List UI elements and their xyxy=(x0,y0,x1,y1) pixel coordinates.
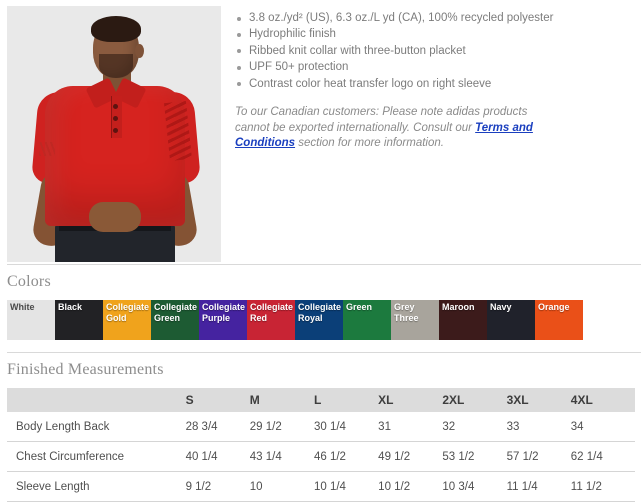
swatch-label: Collegiate Royal xyxy=(298,302,342,324)
color-swatch-maroon[interactable]: Maroon xyxy=(439,300,487,340)
list-item: Hydrophilic finish xyxy=(235,26,635,42)
color-swatch-orange[interactable]: Orange xyxy=(535,300,583,340)
model-beard xyxy=(99,54,133,78)
swatch-label: Maroon xyxy=(442,302,486,313)
cell-value: 43 1/4 xyxy=(250,442,314,472)
row-label: Body Length Back xyxy=(7,412,186,442)
table-header-row: S M L XL 2XL 3XL 4XL xyxy=(7,388,635,412)
cell-value: 34 xyxy=(571,412,635,442)
column-header-4xl: 4XL xyxy=(571,388,635,412)
table-row: Chest Circumference 40 1/4 43 1/4 46 1/2… xyxy=(7,442,635,472)
color-swatch-navy[interactable]: Navy xyxy=(487,300,535,340)
color-swatch-collegiate-gold[interactable]: Collegiate Gold xyxy=(103,300,151,340)
column-header-s: S xyxy=(186,388,250,412)
row-label: Sleeve Length xyxy=(7,472,186,502)
cell-value: 49 1/2 xyxy=(378,442,442,472)
row-label: Chest Circumference xyxy=(7,442,186,472)
cell-value: 10 1/4 xyxy=(314,472,378,502)
color-swatch-white[interactable]: White xyxy=(7,300,55,340)
color-swatch-row: White Black Collegiate Gold Collegiate G… xyxy=(7,300,643,340)
list-item: UPF 50+ protection xyxy=(235,59,635,75)
adidas-logo-icon xyxy=(39,142,55,156)
placket-button xyxy=(113,128,118,133)
product-photo[interactable] xyxy=(7,6,221,262)
cell-value: 10 xyxy=(250,472,314,502)
color-swatch-black[interactable]: Black xyxy=(55,300,103,340)
swatch-label: Collegiate Green xyxy=(154,302,198,324)
swatch-label: Collegiate Purple xyxy=(202,302,246,324)
cell-value: 28 3/4 xyxy=(186,412,250,442)
swatch-label: Collegiate Gold xyxy=(106,302,150,324)
swatch-label: Collegiate Red xyxy=(250,302,294,324)
color-swatch-green[interactable]: Green xyxy=(343,300,391,340)
cell-value: 31 xyxy=(378,412,442,442)
measurements-heading: Finished Measurements xyxy=(0,353,643,388)
canadian-customers-disclaimer: To our Canadian customers: Please note a… xyxy=(235,105,565,152)
list-item: 3.8 oz./yd² (US), 6.3 oz./L yd (CA), 100… xyxy=(235,10,635,26)
swatch-label: Orange xyxy=(538,302,582,313)
cell-value: 10 3/4 xyxy=(442,472,506,502)
list-item: Contrast color heat transfer logo on rig… xyxy=(235,76,635,92)
product-overview: 3.8 oz./yd² (US), 6.3 oz./L yd (CA), 100… xyxy=(0,0,643,264)
model-hands xyxy=(89,202,141,232)
cell-value: 11 1/4 xyxy=(507,472,571,502)
cell-value: 30 1/4 xyxy=(314,412,378,442)
cell-value: 62 1/4 xyxy=(571,442,635,472)
swatch-label: Black xyxy=(58,302,102,313)
color-swatch-collegiate-royal[interactable]: Collegiate Royal xyxy=(295,300,343,340)
cell-value: 9 1/2 xyxy=(186,472,250,502)
cell-value: 40 1/4 xyxy=(186,442,250,472)
color-swatch-collegiate-green[interactable]: Collegiate Green xyxy=(151,300,199,340)
column-header-xl: XL xyxy=(378,388,442,412)
placket-button xyxy=(113,104,118,109)
feature-list-container: 3.8 oz./yd² (US), 6.3 oz./L yd (CA), 100… xyxy=(221,0,643,163)
cell-value: 33 xyxy=(507,412,571,442)
cell-value: 57 1/2 xyxy=(507,442,571,472)
disclaimer-text-after: section for more information. xyxy=(295,137,444,149)
cell-value: 46 1/2 xyxy=(314,442,378,472)
column-header-l: L xyxy=(314,388,378,412)
cell-value: 29 1/2 xyxy=(250,412,314,442)
swatch-label: White xyxy=(10,302,54,313)
cell-value: 11 1/2 xyxy=(571,472,635,502)
product-feature-list: 3.8 oz./yd² (US), 6.3 oz./L yd (CA), 100… xyxy=(235,10,635,92)
column-header-measurement xyxy=(7,388,186,412)
colors-heading: Colors xyxy=(0,265,643,300)
list-item: Ribbed knit collar with three-button pla… xyxy=(235,43,635,59)
cell-value: 53 1/2 xyxy=(442,442,506,472)
table-row: Sleeve Length 9 1/2 10 10 1/4 10 1/2 10 … xyxy=(7,472,635,502)
color-swatch-grey-three[interactable]: Grey Three xyxy=(391,300,439,340)
swatch-label: Grey Three xyxy=(394,302,438,324)
color-swatch-collegiate-red[interactable]: Collegiate Red xyxy=(247,300,295,340)
finished-measurements-table: S M L XL 2XL 3XL 4XL Body Length Back 28… xyxy=(7,388,635,502)
placket-button xyxy=(113,116,118,121)
column-header-m: M xyxy=(250,388,314,412)
table-row: Body Length Back 28 3/4 29 1/2 30 1/4 31… xyxy=(7,412,635,442)
model-ear xyxy=(135,44,144,58)
model-hair xyxy=(91,16,141,42)
cell-value: 10 1/2 xyxy=(378,472,442,502)
swatch-label: Green xyxy=(346,302,390,313)
column-header-2xl: 2XL xyxy=(442,388,506,412)
swatch-label: Navy xyxy=(490,302,534,313)
column-header-3xl: 3XL xyxy=(507,388,571,412)
color-swatch-collegiate-purple[interactable]: Collegiate Purple xyxy=(199,300,247,340)
cell-value: 32 xyxy=(442,412,506,442)
